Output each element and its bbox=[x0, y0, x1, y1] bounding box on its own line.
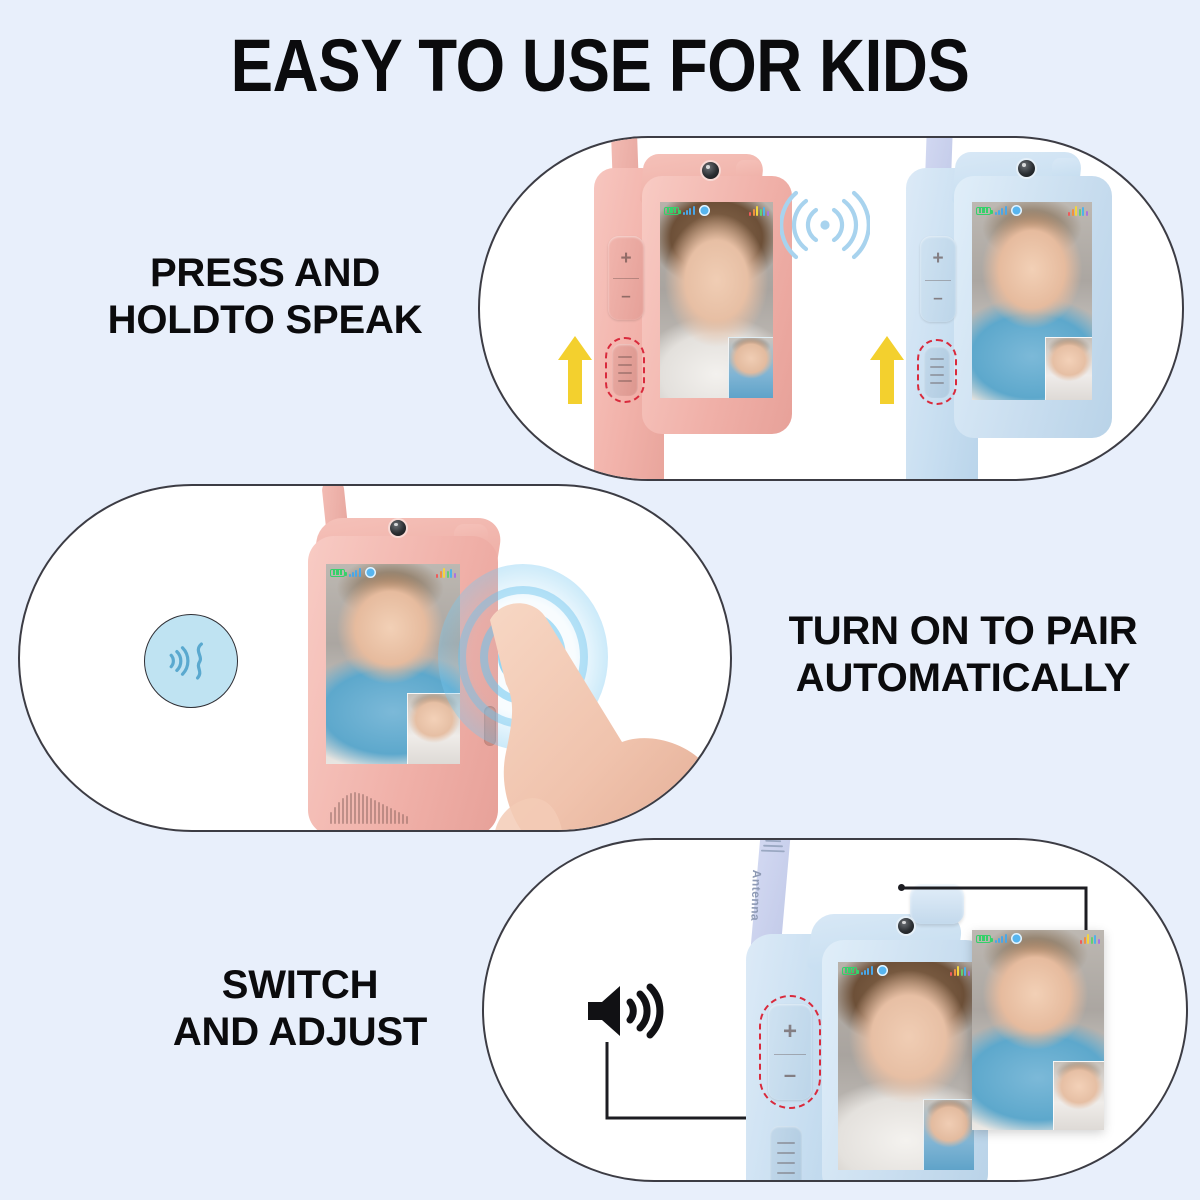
antenna-label: Antenna bbox=[748, 870, 764, 922]
mic-circle-icon bbox=[365, 567, 376, 578]
volume-minus-label: – bbox=[621, 286, 630, 306]
battery-icon bbox=[842, 967, 857, 975]
equalizer-icon bbox=[749, 205, 769, 216]
caption-line-1: TURN ON TO PAIR bbox=[748, 608, 1178, 655]
volume-rocker[interactable]: + – bbox=[920, 236, 956, 322]
camera-lens-icon bbox=[702, 162, 719, 179]
slider-ridge bbox=[777, 1172, 795, 1174]
volume-minus-label: – bbox=[933, 288, 942, 308]
ptt-highlight-ring bbox=[605, 337, 645, 403]
antenna-signal-glyph bbox=[760, 838, 787, 858]
volume-plus-label: + bbox=[620, 248, 631, 270]
camera-lens-icon bbox=[390, 520, 406, 536]
screen-pip-boy bbox=[923, 1099, 974, 1170]
equalizer-icon bbox=[1080, 933, 1100, 944]
up-arrow-icon bbox=[870, 336, 904, 404]
signal-bars-icon bbox=[995, 206, 1007, 215]
caption-turn-on-to-pair: TURN ON TO PAIR AUTOMATICALLY bbox=[748, 608, 1178, 702]
mic-circle-icon bbox=[699, 205, 710, 216]
speaker-grille bbox=[330, 790, 408, 824]
battery-icon bbox=[664, 207, 679, 215]
arrow-shaft bbox=[568, 358, 582, 404]
caption-switch-and-adjust: SWITCH AND ADJUST bbox=[105, 962, 495, 1056]
leader-endpoint-dot bbox=[898, 884, 905, 891]
signal-bars-icon bbox=[861, 966, 873, 975]
battery-icon bbox=[330, 569, 345, 577]
slider-ridge bbox=[777, 1142, 795, 1144]
slider-ridge bbox=[777, 1162, 795, 1164]
callout-screen bbox=[972, 930, 1104, 1130]
signal-bars-icon bbox=[995, 934, 1007, 943]
rocker-divider bbox=[613, 278, 639, 279]
finger-press-pointer bbox=[472, 592, 732, 832]
volume-rocker[interactable]: + – bbox=[608, 236, 644, 320]
up-arrow-icon bbox=[558, 336, 592, 404]
mic-circle-icon bbox=[1011, 933, 1022, 944]
arrow-shaft bbox=[880, 358, 894, 404]
ptt-slider-button[interactable] bbox=[770, 1126, 802, 1182]
voice-speak-icon bbox=[144, 614, 238, 708]
callout-status-bar bbox=[972, 930, 1104, 947]
mic-circle-icon bbox=[877, 965, 888, 976]
caption-line-2: AUTOMATICALLY bbox=[748, 655, 1178, 702]
volume-speaker-icon bbox=[584, 980, 670, 1042]
volume-highlight-ring bbox=[759, 995, 821, 1109]
ptt-highlight-ring bbox=[917, 339, 957, 405]
caption-line-1: PRESS AND bbox=[65, 250, 465, 297]
caption-line-2: HOLDTO SPEAK bbox=[65, 297, 465, 344]
infographic-canvas: EASY TO USE FOR KIDS PRESS AND HOLDTO SP… bbox=[0, 0, 1200, 1200]
camera-lens-icon bbox=[1018, 160, 1035, 177]
callout-pip-girl bbox=[1053, 1061, 1104, 1130]
arrow-head bbox=[870, 336, 904, 360]
page-title: EASY TO USE FOR KIDS bbox=[84, 26, 1116, 106]
rocker-divider bbox=[925, 280, 951, 281]
battery-icon bbox=[976, 935, 991, 943]
caption-line-2: AND ADJUST bbox=[105, 1009, 495, 1056]
panel-turn-on-to-pair bbox=[18, 484, 732, 832]
device-pink-walkie-talkie: + – bbox=[550, 136, 810, 481]
caption-press-and-hold: PRESS AND HOLDTO SPEAK bbox=[65, 250, 465, 344]
equalizer-icon bbox=[1068, 205, 1088, 216]
slider-ridge bbox=[777, 1152, 795, 1154]
signal-bars-icon bbox=[349, 568, 361, 577]
battery-icon bbox=[976, 207, 991, 215]
panel-switch-and-adjust: Antenna bbox=[482, 838, 1188, 1182]
device-screen bbox=[972, 202, 1092, 400]
signal-bars-icon bbox=[683, 206, 695, 215]
volume-plus-label: + bbox=[932, 248, 943, 270]
arrow-head bbox=[558, 336, 592, 360]
screen-pip-boy bbox=[728, 337, 773, 398]
mic-circle-icon bbox=[1011, 205, 1022, 216]
caption-line-1: SWITCH bbox=[105, 962, 495, 1009]
device-screen bbox=[660, 202, 773, 398]
panel-press-and-hold: + – bbox=[478, 136, 1184, 481]
screen-status-bar bbox=[660, 202, 773, 219]
device-blue-walkie-talkie: + – bbox=[854, 136, 1124, 481]
screen-status-bar bbox=[972, 202, 1092, 219]
screen-pip-girl bbox=[1045, 337, 1092, 400]
